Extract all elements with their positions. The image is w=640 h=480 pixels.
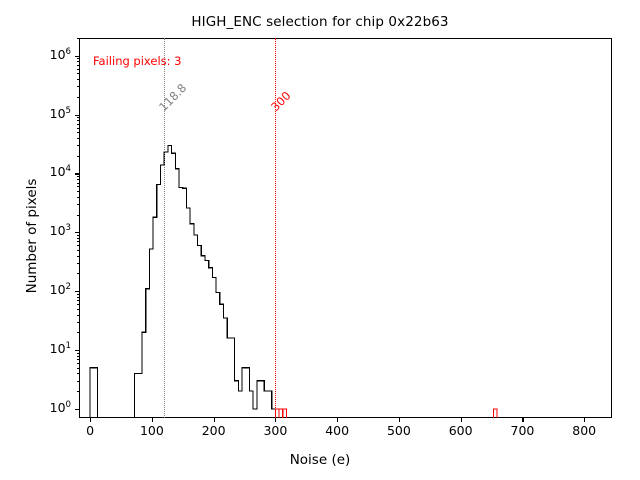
y-tick-label: 103: [25, 223, 71, 238]
axis-tick: [75, 291, 79, 292]
axis-tick: [77, 245, 80, 246]
axis-tick: [77, 235, 80, 236]
axis-tick: [77, 197, 80, 198]
y-tick-label: 106: [25, 47, 71, 62]
axis-tick: [77, 191, 80, 192]
axis-tick: [275, 418, 276, 422]
axis-tick: [75, 115, 79, 116]
axis-tick: [77, 204, 80, 205]
x-axis-label: Noise (e): [0, 452, 640, 468]
axis-tick: [77, 179, 80, 180]
axis-tick: [77, 297, 80, 298]
x-tick-label: 500: [376, 423, 422, 438]
y-tick-label: 100: [25, 400, 71, 415]
axis-tick: [77, 176, 80, 177]
x-tick-label: 200: [191, 423, 237, 438]
axis-tick: [152, 418, 153, 422]
axis-tick: [77, 315, 80, 316]
x-tick-label: 700: [499, 423, 545, 438]
axis-tick: [77, 69, 80, 70]
axis-tick: [584, 418, 585, 422]
x-tick-label: 300: [252, 423, 298, 438]
x-tick-label: 400: [314, 423, 360, 438]
y-tick-label: 102: [25, 282, 71, 297]
y-tick-label: 101: [25, 341, 71, 356]
axis-tick: [77, 238, 80, 239]
x-tick-label: 600: [438, 423, 484, 438]
axis-tick: [461, 418, 462, 422]
axis-tick: [77, 58, 80, 59]
axis-tick: [77, 391, 80, 392]
axis-tick: [77, 332, 80, 333]
axis-tick: [77, 381, 80, 382]
histogram-series: [79, 38, 612, 418]
failing-pixels-note: Failing pixels: 3: [93, 54, 182, 68]
axis-tick: [77, 353, 80, 354]
axis-tick: [399, 418, 400, 422]
axis-tick: [77, 256, 80, 257]
axis-tick: [77, 359, 80, 360]
plot-area: [79, 38, 612, 418]
axis-tick: [77, 61, 80, 62]
axis-tick: [75, 409, 79, 410]
x-tick-label: 100: [129, 423, 175, 438]
y-tick-label: 104: [25, 164, 71, 179]
axis-tick: [214, 418, 215, 422]
axis-tick: [522, 418, 523, 422]
axis-tick: [77, 186, 80, 187]
axis-tick: [337, 418, 338, 422]
axis-tick: [90, 418, 91, 422]
axis-tick: [77, 263, 80, 264]
axis-tick: [77, 73, 80, 74]
axis-tick: [77, 97, 80, 98]
axis-tick: [77, 117, 80, 118]
axis-tick: [77, 138, 80, 139]
axis-tick: [77, 273, 80, 274]
axis-tick: [77, 145, 80, 146]
axis-tick: [77, 368, 80, 369]
axis-tick: [77, 250, 80, 251]
axis-tick: [77, 132, 80, 133]
axis-tick: [75, 173, 79, 174]
axis-tick: [77, 356, 80, 357]
axis-tick: [77, 215, 80, 216]
axis-tick: [77, 309, 80, 310]
axis-tick: [77, 363, 80, 364]
axis-tick: [77, 65, 80, 66]
axis-tick: [77, 322, 80, 323]
axis-tick: [77, 120, 80, 121]
axis-tick: [77, 373, 80, 374]
axis-tick: [77, 38, 80, 39]
axis-tick: [77, 79, 80, 80]
x-tick-label: 0: [67, 423, 113, 438]
axis-tick: [77, 86, 80, 87]
axis-tick: [75, 56, 79, 57]
axis-tick: [75, 232, 79, 233]
chart-title: HIGH_ENC selection for chip 0x22b63: [0, 14, 640, 30]
axis-tick: [77, 128, 80, 129]
axis-tick: [77, 300, 80, 301]
axis-tick: [75, 350, 79, 351]
y-tick-label: 105: [25, 106, 71, 121]
axis-tick: [77, 294, 80, 295]
axis-tick: [77, 124, 80, 125]
axis-tick: [77, 156, 80, 157]
axis-tick: [77, 241, 80, 242]
histogram-figure: HIGH_ENC selection for chip 0x22b63 Numb…: [0, 0, 640, 480]
axis-tick: [77, 304, 80, 305]
axis-tick: [77, 183, 80, 184]
x-tick-label: 800: [561, 423, 607, 438]
